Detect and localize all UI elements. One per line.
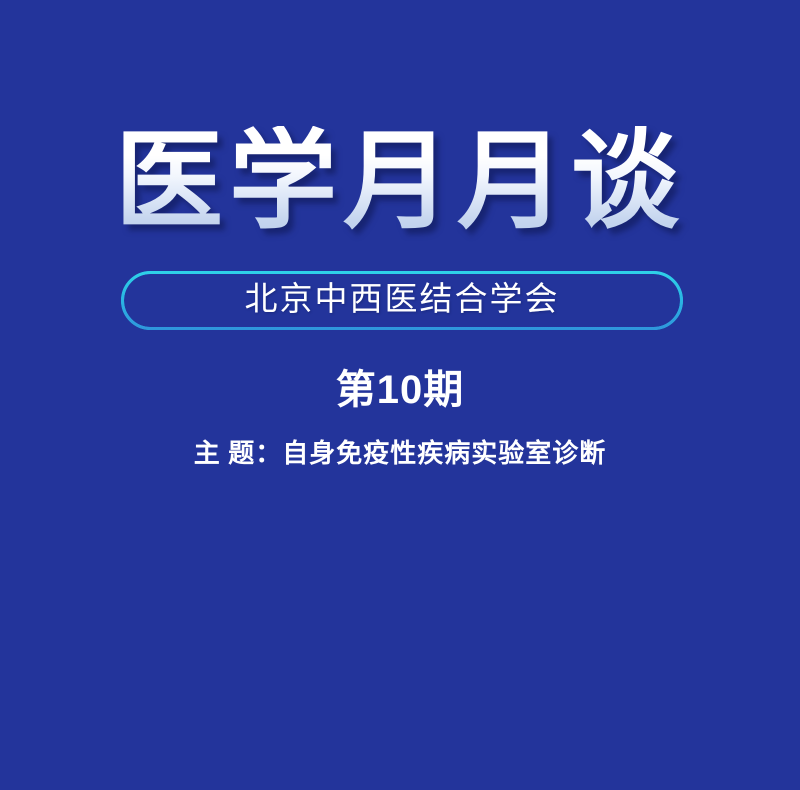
organization-pill: 北京中西医结合学会 (121, 271, 683, 330)
page-title: 医学月月谈 (115, 126, 685, 240)
lower-blank-area (0, 500, 800, 790)
topic-line: 主 题：自身免疫性疾病实验室诊断 (0, 440, 800, 469)
main-title-container: 医学月月谈 (0, 126, 800, 240)
organization-name: 北京中西医结合学会 (245, 284, 560, 317)
issue-number: 第10期 (0, 369, 800, 411)
poster-canvas: 医学月月谈 北京中西医结合学会 第10期 主 题：自身免疫性疾病实验室诊断 (0, 0, 800, 790)
